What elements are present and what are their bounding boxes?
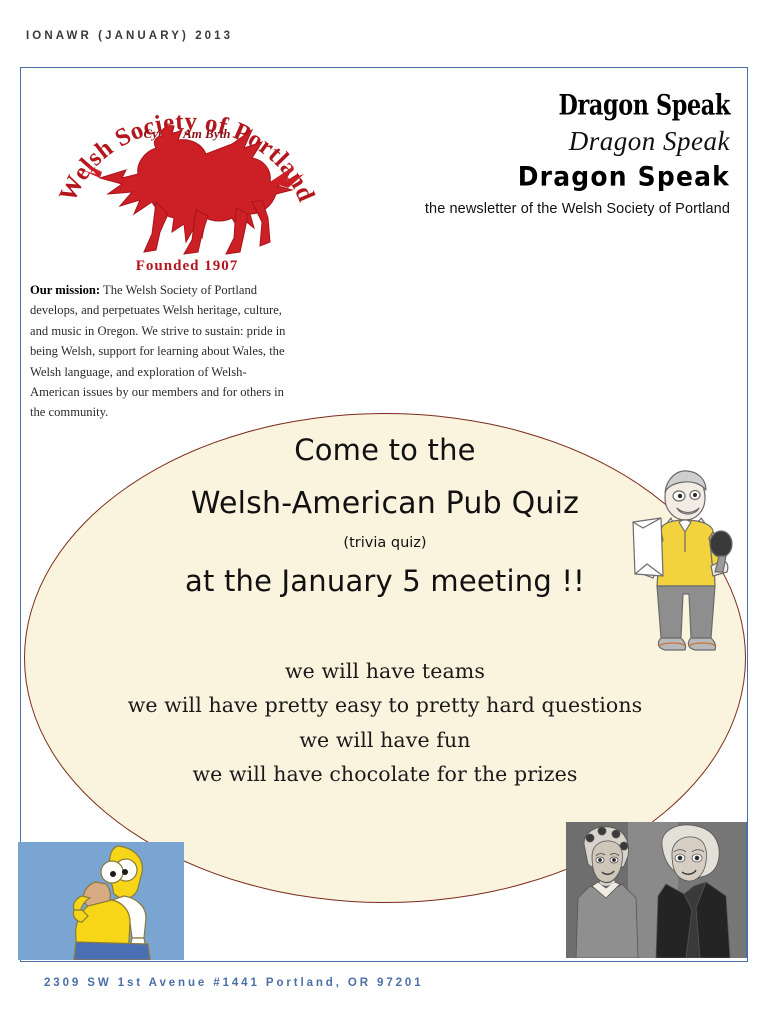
- masthead-title-italic: Dragon Speak: [390, 126, 730, 157]
- promise-item: we will have pretty easy to pretty hard …: [24, 688, 746, 722]
- masthead: Dragon Speak Dragon Speak Dragon Speak t…: [390, 92, 730, 217]
- masthead-tagline: the newsletter of the Welsh Society of P…: [390, 201, 730, 217]
- puzzled-women-photo: [566, 822, 748, 958]
- promise-item: we will have fun: [24, 723, 746, 757]
- welsh-society-logo: Welsh Society of Portland Cymru Am Byth …: [56, 82, 318, 278]
- mission-lead-in: Our mission:: [30, 283, 100, 297]
- masthead-title-blackletter: Dragon Speak: [414, 90, 730, 121]
- thinking-cartoon-image: [18, 842, 184, 960]
- issue-date-line: IONAWR (JANUARY) 2013: [26, 30, 233, 42]
- promise-item: we will have chocolate for the prizes: [24, 757, 746, 791]
- mission-statement: Our mission: The Welsh Society of Portla…: [30, 280, 288, 423]
- mission-body: The Welsh Society of Portland develops, …: [30, 283, 285, 419]
- footer-address: 2309 SW 1st Avenue #1441 Portland, OR 97…: [44, 977, 424, 989]
- announcement-promise-list: we will have teams we will have pretty e…: [24, 654, 746, 792]
- quizmaster-illustration: [627, 448, 739, 660]
- svg-text:Founded 1907: Founded 1907: [136, 258, 238, 274]
- masthead-title-comic: Dragon Speak: [390, 163, 730, 193]
